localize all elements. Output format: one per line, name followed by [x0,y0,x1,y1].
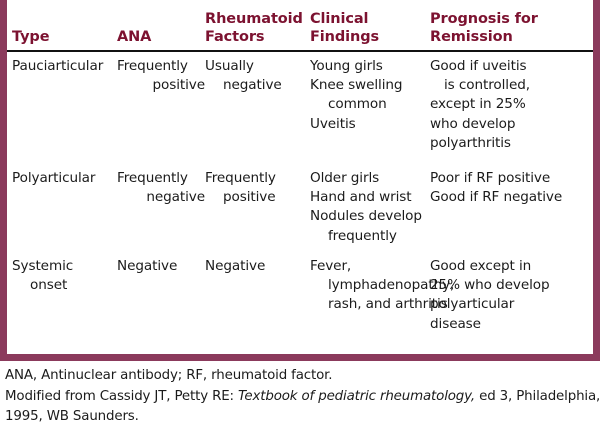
cell-line: positive [205,188,305,207]
table-header-row: Type ANA Rheumatoid Factors Clinical Fin… [7,0,593,50]
footnote-source-title: Textbook of pediatric rheumatology, [238,389,475,404]
column-header-clinical-line2: Findings [310,28,428,46]
cell-line: frequently [310,227,428,246]
cell-clinical-findings: Young girls Knee swelling common Uveitis [310,57,428,134]
cell-line: who develop [430,115,593,134]
column-header-prognosis-line2: Remission [430,28,593,46]
cell-line: Good except in [430,257,593,276]
cell-type: Systemic onset [12,257,115,295]
column-header-type-line2: Type [12,28,115,46]
cell-clinical-findings: Older girls Hand and wrist Nodules devel… [310,169,428,246]
table-footnotes: ANA, Antinuclear antibody; RF, rheumatoi… [0,366,600,428]
footnote-source-line2: 1995, WB Saunders. [0,407,600,428]
table-row: Polyarticular Frequently negative Freque… [7,169,593,257]
cell-rheumatoid-factors: Usually negative [205,57,305,95]
column-header-ana-line2: ANA [117,28,205,46]
cell-line: polyarthritis [430,134,593,153]
cell-line: Polyarticular [12,169,115,188]
cell-line: Negative [117,257,205,276]
footnote-source-prefix: Modified from Cassidy JT, Petty RE: [5,389,238,404]
cell-prognosis: Poor if RF positive Good if RF negative [430,169,593,207]
cell-line: Nodules develop [310,207,428,226]
cell-type: Pauciarticular [12,57,115,76]
cell-line: rash, and arthritis [310,295,428,314]
cell-line: common [310,95,428,114]
cell-line: Good if RF negative [430,188,593,207]
footnote-source-suffix: ed 3, Philadelphia, [475,389,600,404]
cell-line: Usually [205,57,305,76]
column-header-rheumatoid-factors: Rheumatoid Factors [205,10,305,46]
column-header-clinical-findings: Clinical Findings [310,10,428,46]
cell-ana: Frequently positive [117,57,205,95]
cell-line: is controlled, [430,76,593,95]
cell-line: negative [117,188,205,207]
cell-line: Knee swelling [310,76,428,95]
cell-line: lymphadenopathy, [310,276,428,295]
cell-line: polyarticular [430,295,593,314]
table-row: Systemic onset Negative Negative Fever, … [7,257,593,349]
cell-line: onset [12,276,115,295]
footnote-abbreviations: ANA, Antinuclear antibody; RF, rheumatoi… [0,366,600,387]
column-header-rf-line1: Rheumatoid [205,10,305,28]
cell-line: Frequently [117,57,205,76]
column-header-rf-line2: Factors [205,28,305,46]
cell-line: Young girls [310,57,428,76]
cell-line: positive [117,76,205,95]
cell-ana: Negative [117,257,205,276]
cell-type: Polyarticular [12,169,115,188]
cell-line: Hand and wrist [310,188,428,207]
footnote-source-line1: Modified from Cassidy JT, Petty RE: Text… [0,387,600,408]
column-header-ana: ANA [117,28,205,46]
cell-line: negative [205,76,305,95]
header-divider-rule [7,50,593,52]
column-header-clinical-line1: Clinical [310,10,428,28]
cell-line: Uveitis [310,115,428,134]
cell-line: Frequently [117,169,205,188]
cell-line: Poor if RF positive [430,169,593,188]
cell-rheumatoid-factors: Negative [205,257,305,276]
column-header-prognosis-for-remission: Prognosis for Remission [430,10,593,46]
cell-line: except in 25% [430,95,593,114]
cell-prognosis: Good if uveitis is controlled, except in… [430,57,593,153]
cell-line: Pauciarticular [12,57,115,76]
table-body: Pauciarticular Frequently positive Usual… [7,55,593,354]
cell-line: Systemic [12,257,115,276]
cell-line: disease [430,315,593,334]
cell-line: Fever, [310,257,428,276]
table-row: Pauciarticular Frequently positive Usual… [7,57,593,169]
data-table: Type ANA Rheumatoid Factors Clinical Fin… [0,0,600,361]
cell-line: Older girls [310,169,428,188]
cell-rheumatoid-factors: Frequently positive [205,169,305,207]
cell-prognosis: Good except in 25% who develop polyartic… [430,257,593,334]
cell-clinical-findings: Fever, lymphadenopathy, rash, and arthri… [310,257,428,315]
column-header-type: Type [12,28,115,46]
cell-ana: Frequently negative [117,169,205,207]
cell-line: Frequently [205,169,305,188]
cell-line: Negative [205,257,305,276]
cell-line: 25% who develop [430,276,593,295]
cell-line: Good if uveitis [430,57,593,76]
column-header-prognosis-line1: Prognosis for [430,10,593,28]
